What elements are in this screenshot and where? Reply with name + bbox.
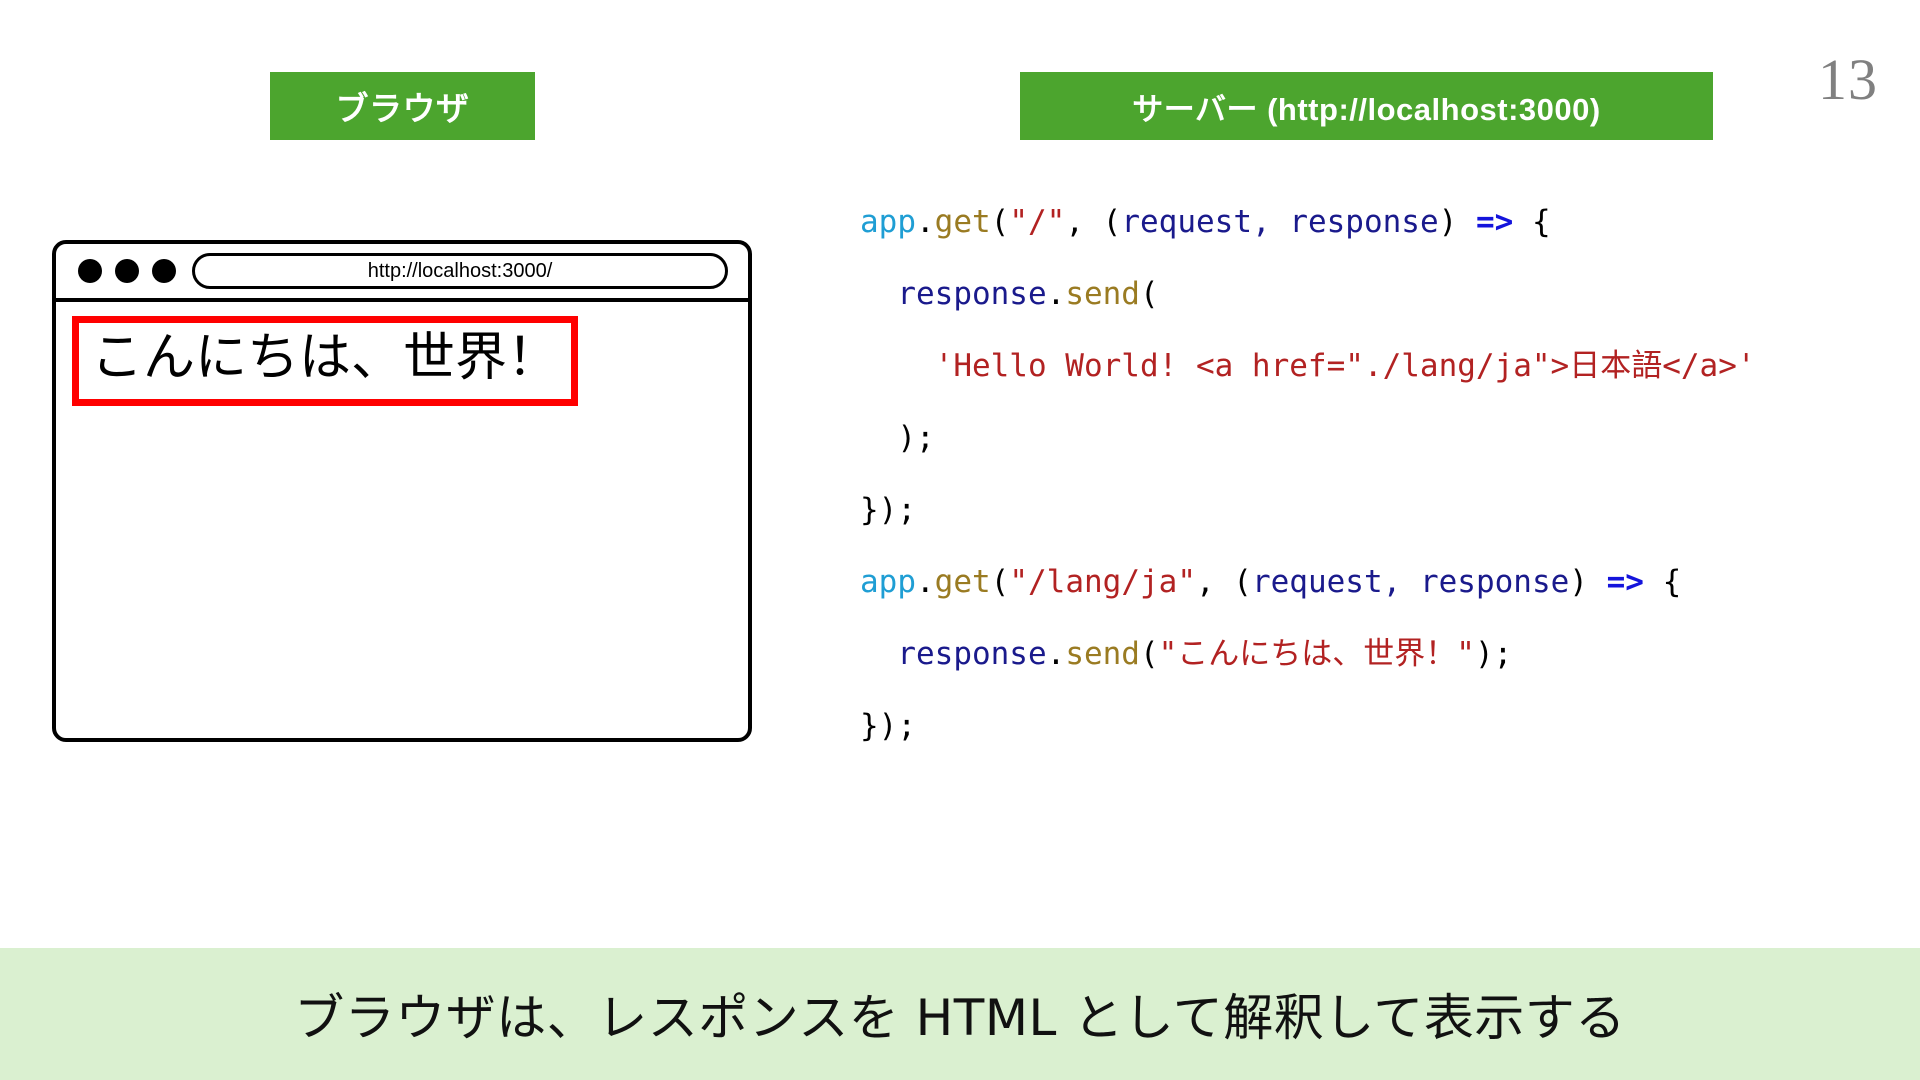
- badge-browser: ブラウザ: [270, 72, 535, 140]
- window-dot-icon: [115, 259, 139, 283]
- browser-viewport: こんにちは、世界！: [56, 302, 748, 738]
- code-token-close: });: [860, 708, 916, 744]
- code-token-object: app: [860, 204, 916, 240]
- code-token-arrow: =>: [1476, 204, 1513, 240]
- server-code-block: app.get("/", (request, response) => { re…: [860, 186, 1890, 762]
- code-token-paren: (: [991, 204, 1010, 240]
- code-token-path-string: "/": [1009, 204, 1065, 240]
- code-token-path-string: "/lang/ja": [1009, 564, 1196, 600]
- code-token-paren: (: [991, 564, 1010, 600]
- rendered-output-text: こんにちは、世界！: [91, 329, 559, 389]
- code-token-indent: [860, 348, 935, 384]
- code-token-close-paren: ): [1569, 564, 1606, 600]
- code-token-indent: [860, 276, 897, 312]
- code-token-method: send: [1065, 636, 1140, 672]
- window-control-dots: [78, 259, 176, 283]
- window-dot-icon: [152, 259, 176, 283]
- code-line-3: 'Hello World! <a href="./lang/ja">日本語</a…: [860, 330, 1890, 402]
- code-token-close-paren: );: [1475, 636, 1512, 672]
- code-token-close: });: [860, 492, 916, 528]
- code-token-paren: (: [1140, 276, 1159, 312]
- code-token-method: get: [935, 204, 991, 240]
- code-token-params: request, response: [1252, 564, 1569, 600]
- code-line-7: response.send("こんにちは、世界！");: [860, 618, 1890, 690]
- code-token-brace: {: [1513, 204, 1550, 240]
- code-token-dot: .: [916, 564, 935, 600]
- code-token-object: response: [897, 276, 1046, 312]
- browser-window-mockup: http://localhost:3000/ こんにちは、世界！: [52, 240, 752, 742]
- code-token-object: response: [897, 636, 1046, 672]
- badge-browser-label: ブラウザ: [336, 82, 470, 130]
- code-token-method: get: [935, 564, 991, 600]
- code-token-arrow: =>: [1607, 564, 1644, 600]
- url-text: http://localhost:3000/: [368, 260, 553, 283]
- caption-text: ブラウザは、レスポンスを HTML として解釈して表示する: [294, 978, 1625, 1050]
- code-line-8: });: [860, 690, 1890, 762]
- code-token-dot: .: [916, 204, 935, 240]
- code-token-comma: , (: [1065, 204, 1121, 240]
- code-token-dot: .: [1047, 636, 1066, 672]
- window-dot-icon: [78, 259, 102, 283]
- code-token-dot: .: [1047, 276, 1066, 312]
- page-number: 13: [1818, 46, 1878, 113]
- caption-bar: ブラウザは、レスポンスを HTML として解釈して表示する: [0, 948, 1920, 1080]
- badge-server: サーバー (http://localhost:3000): [1020, 72, 1713, 140]
- code-token-html-string: 'Hello World! <a href="./lang/ja">日本語</a…: [935, 348, 1756, 384]
- code-token-paren: (: [1140, 636, 1159, 672]
- badge-server-label: サーバー (http://localhost:3000): [1132, 84, 1600, 129]
- code-token-comma: , (: [1196, 564, 1252, 600]
- code-token-japanese-string: "こんにちは、世界！": [1159, 636, 1475, 672]
- code-token-brace: {: [1644, 564, 1681, 600]
- code-token-object: app: [860, 564, 916, 600]
- code-line-1: app.get("/", (request, response) => {: [860, 186, 1890, 258]
- code-token-close-paren: ): [1439, 204, 1476, 240]
- code-token-method: send: [1065, 276, 1140, 312]
- code-line-5: });: [860, 474, 1890, 546]
- code-token-indent: [860, 636, 897, 672]
- code-line-6: app.get("/lang/ja", (request, response) …: [860, 546, 1890, 618]
- code-line-2: response.send(: [860, 258, 1890, 330]
- url-bar[interactable]: http://localhost:3000/: [192, 253, 728, 289]
- code-token-params: request, response: [1121, 204, 1438, 240]
- rendered-output-highlight: こんにちは、世界！: [72, 316, 578, 406]
- code-line-4: );: [860, 402, 1890, 474]
- browser-chrome: http://localhost:3000/: [56, 244, 748, 302]
- code-token-close: );: [860, 420, 935, 456]
